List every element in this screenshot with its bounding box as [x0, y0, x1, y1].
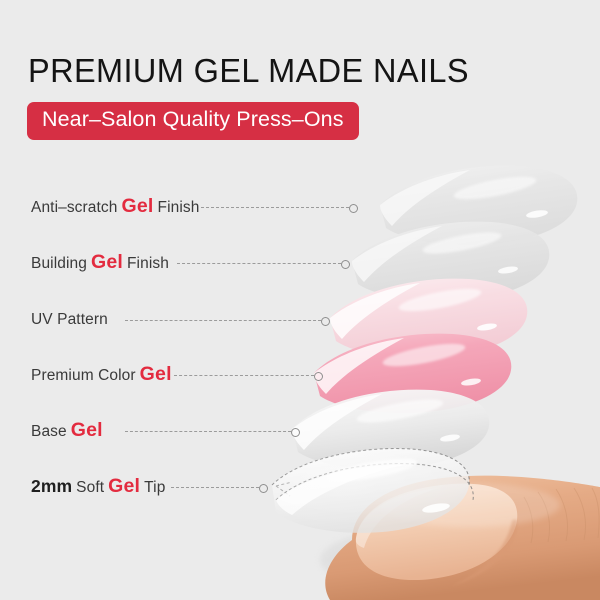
- fingertip-photo: [320, 476, 600, 600]
- callout-label-building-gel-finish: BuildingGelFinish: [31, 253, 169, 273]
- leader-line-soft-gel-tip: [171, 487, 259, 488]
- subtitle-badge-label: Near–Salon Quality Press–Ons: [42, 109, 344, 131]
- subtitle-badge: Near–Salon Quality Press–Ons: [27, 102, 359, 140]
- leader-line-building-gel: [177, 263, 341, 264]
- callout-label-2mm-soft-gel-tip: 2mmSoftGelTip: [31, 477, 165, 497]
- base-gel-layer: [292, 390, 489, 469]
- anti-scratch-gel-finish-layer: [380, 166, 577, 245]
- callout-label-uv-pattern: UV Pattern: [31, 312, 108, 328]
- callout-anti-scratch-gel-finish: Anti–scratchGelFinish: [31, 196, 349, 218]
- leader-line-uv-pattern: [125, 320, 321, 321]
- callout-premium-color-gel: Premium ColorGel: [31, 364, 314, 386]
- callout-label-anti-scratch-gel-finish: Anti–scratchGelFinish: [31, 197, 199, 217]
- leader-line-premium-color-gel: [174, 375, 314, 376]
- page-title: PREMIUM GEL MADE NAILS: [28, 52, 469, 90]
- uv-pattern-layer: [330, 279, 527, 358]
- callout-base-gel: BaseGel: [31, 420, 291, 442]
- callout-label-premium-color-gel: Premium ColorGel: [31, 365, 172, 385]
- building-gel-finish-layer: [352, 222, 549, 301]
- leader-line-base-gel: [125, 431, 291, 432]
- soft-gel-tip-layer: [272, 449, 473, 533]
- callout-label-base-gel: BaseGel: [31, 421, 103, 441]
- callout-2mm-soft-gel-tip: 2mmSoftGelTip: [31, 476, 259, 498]
- callout-uv-pattern: UV Pattern: [31, 309, 321, 331]
- callout-building-gel-finish: BuildingGelFinish: [31, 252, 341, 274]
- nail-layer-stack-illustration: [0, 0, 600, 600]
- infographic-canvas: PREMIUM GEL MADE NAILS Near–Salon Qualit…: [0, 0, 600, 600]
- premium-color-gel-layer: [314, 334, 511, 413]
- leader-line-anti-scratch: [201, 207, 349, 208]
